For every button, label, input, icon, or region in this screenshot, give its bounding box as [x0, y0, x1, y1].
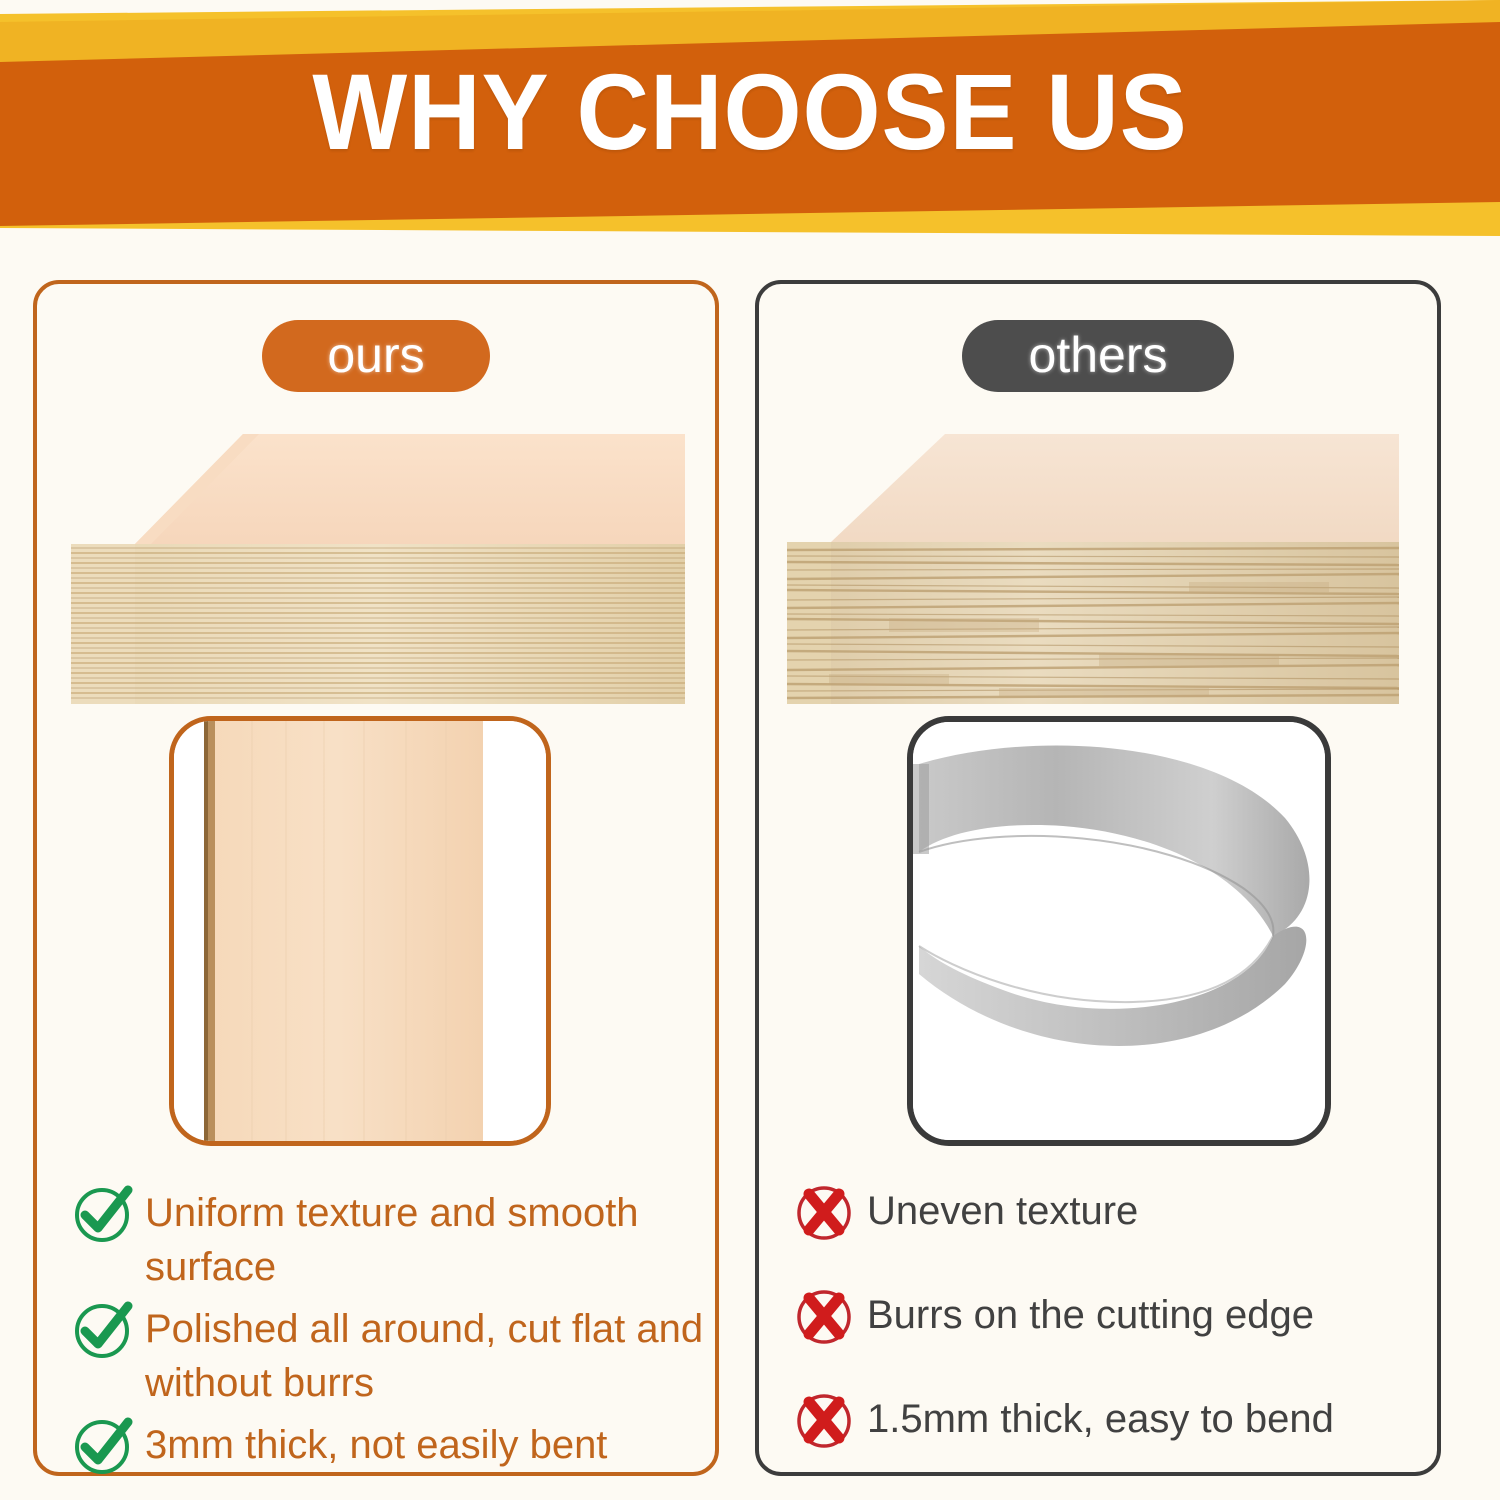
plywood-stack-uniform-image: [47, 422, 713, 718]
list-item-label: 1.5mm thick, easy to bend: [867, 1390, 1334, 1446]
smooth-edge-closeup-image: [174, 721, 546, 1141]
page-title: WHY CHOOSE US: [53, 58, 1448, 166]
badge-ours: ours: [262, 320, 490, 392]
x-circle-icon: [791, 1390, 861, 1452]
bullet-list-others: Uneven texture Burrs on the cutting edge…: [791, 1182, 1431, 1494]
plywood-stack-uneven-image: [769, 422, 1435, 718]
list-item-label: Polished all around, cut flat and withou…: [145, 1300, 709, 1410]
list-item-label: Uneven texture: [867, 1182, 1138, 1238]
badge-others: others: [962, 320, 1234, 392]
list-item: Burrs on the cutting edge: [791, 1286, 1431, 1348]
comparison-area: ours: [0, 248, 1500, 1500]
x-circle-icon: [791, 1182, 861, 1244]
list-item: Uniform texture and smooth surface: [69, 1184, 709, 1294]
list-item: 3mm thick, not easily bent: [69, 1416, 709, 1478]
check-circle-icon: [69, 1184, 139, 1246]
bullet-list-ours: Uniform texture and smooth surface Polis…: [69, 1184, 709, 1484]
x-circle-icon: [791, 1286, 861, 1348]
check-circle-icon: [69, 1416, 139, 1478]
list-item: Uneven texture: [791, 1182, 1431, 1244]
list-item: Polished all around, cut flat and withou…: [69, 1300, 709, 1410]
list-item: 1.5mm thick, easy to bend: [791, 1390, 1431, 1452]
panel-ours: ours: [33, 280, 719, 1476]
detail-inset-others: [907, 716, 1331, 1146]
check-circle-icon: [69, 1300, 139, 1362]
bent-thin-board-closeup-image: [913, 722, 1325, 1140]
list-item-label: 3mm thick, not easily bent: [145, 1416, 607, 1472]
panel-others: others: [755, 280, 1441, 1476]
header-banner: WHY CHOOSE US: [0, 0, 1500, 248]
list-item-label: Uniform texture and smooth surface: [145, 1184, 709, 1294]
detail-inset-ours: [169, 716, 551, 1146]
list-item-label: Burrs on the cutting edge: [867, 1286, 1314, 1342]
